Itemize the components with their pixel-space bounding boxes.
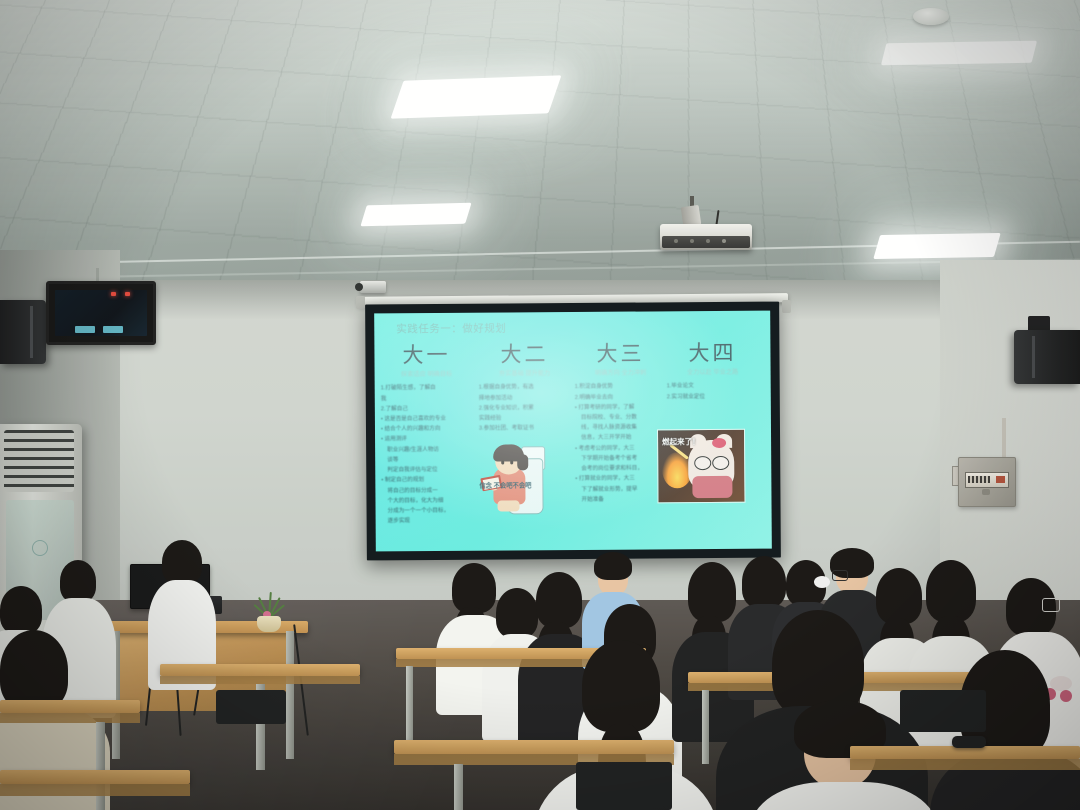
desk-surface	[0, 700, 140, 713]
meme-caption: 燃起来了！	[662, 436, 700, 447]
panel-breaker-window	[965, 472, 1009, 488]
podium-leg	[286, 631, 294, 759]
wall-control-monitor[interactable]	[46, 281, 156, 345]
slide-column-junior: 大三 明确方向 全力冲刺 1.积淀自身优势 2.明确毕业去向 • 打算考研的同学…	[574, 337, 667, 506]
projection-screen: 实践任务一：做好规划 大一 探索适应 明确目标 1.打破陌生感，了解自 我 2.…	[365, 302, 781, 561]
wall-monitor-screen	[55, 290, 147, 336]
potted-plant	[252, 598, 286, 632]
classroom-chair[interactable]	[576, 762, 672, 810]
girl-hair-side	[517, 454, 528, 470]
projector-lens	[722, 239, 726, 243]
hair	[876, 568, 922, 624]
girl-eye	[501, 460, 504, 464]
classroom-chair[interactable]	[216, 690, 286, 724]
right-wall-speaker	[1014, 330, 1080, 384]
desk-leg	[454, 764, 463, 810]
speaker-strip	[30, 306, 33, 358]
hair	[0, 630, 68, 710]
status-led-icon	[111, 292, 116, 296]
back-wall-camera	[360, 281, 386, 293]
hair	[0, 586, 42, 634]
desk-surface	[160, 664, 360, 676]
desk-leg	[96, 722, 105, 810]
camera-lens-icon	[355, 283, 363, 291]
desk-surface	[0, 770, 190, 784]
column-body: 1.根据自身优势，有选 择地参加活动 2.强化专业知识，积累 实践经验 3.参加…	[479, 383, 571, 434]
girl-eye	[510, 460, 513, 464]
column-heading: 大三	[574, 337, 666, 368]
column-heading: 大一	[380, 339, 472, 370]
projector-body	[660, 224, 752, 250]
breaker-indicator	[996, 476, 1005, 483]
plant-pot	[257, 616, 281, 632]
desk-leg	[406, 666, 413, 746]
hair	[742, 556, 786, 608]
hair	[926, 560, 976, 622]
slide-title: 实践任务一：做好规划	[396, 320, 506, 336]
hair	[536, 572, 582, 628]
desk-edge	[0, 784, 190, 796]
smoke-detector-icon	[913, 8, 949, 25]
roller-end-cap	[356, 296, 365, 309]
kitty-glasses	[712, 456, 729, 470]
ac-vent-louvers	[4, 430, 74, 492]
slide-surface: 实践任务一：做好规划 大一 探索适应 明确目标 1.打破陌生感，了解自 我 2.…	[374, 311, 772, 552]
desk-surface	[394, 740, 674, 754]
cartoon-girl-illustration: 信念 不会吧不会吧	[477, 438, 556, 525]
roller-end-cap	[782, 300, 791, 313]
slide-column-senior: 大四 全力以赴 毕业之路 1.毕业论文 2.实习就业定位	[666, 337, 758, 403]
desk-edge	[0, 713, 140, 723]
classroom-photo: 实践任务一：做好规划 大一 探索适应 明确目标 1.打破陌生感，了解自 我 2.…	[0, 0, 1080, 810]
speaker-strip	[1032, 336, 1035, 378]
monitor-button[interactable]	[103, 326, 123, 333]
desk-edge	[850, 759, 1080, 770]
status-led-icon	[125, 292, 130, 296]
breaker-switches	[968, 476, 990, 483]
kitty-body	[692, 476, 732, 498]
column-subtitle: 全力以赴 毕业之路	[667, 368, 759, 378]
column-heading: 大四	[666, 337, 758, 368]
hair-clip	[814, 576, 830, 588]
classroom-chair[interactable]	[900, 690, 986, 732]
hair	[688, 562, 736, 622]
ac-power-icon[interactable]	[32, 540, 48, 556]
kitty-bow	[712, 438, 726, 448]
column-body: 1.积淀自身优势 2.明确毕业去向 • 打算考研的同学，了解 目标院校、专业、分…	[575, 383, 668, 505]
conduit-pipe	[1002, 418, 1006, 460]
girl-legs	[497, 500, 519, 511]
column-body: 1.打破陌生感，了解自 我 2.了解自己 • 这是否是自己喜欢的专业 • 结合个…	[381, 384, 474, 527]
left-wall-speaker	[0, 300, 46, 364]
electrical-panel-box[interactable]	[958, 457, 1016, 507]
projector-vent-dot	[674, 239, 678, 243]
column-subtitle: 明确方向 全力冲刺	[575, 368, 667, 378]
ceiling-projector	[660, 216, 752, 250]
hair	[452, 563, 496, 613]
kitty-glasses	[694, 456, 711, 470]
hello-kitty-meme-image: 燃起来了！	[657, 429, 746, 504]
desk-item-glasses[interactable]	[952, 736, 986, 748]
hair	[496, 588, 538, 638]
hair	[582, 640, 660, 732]
column-heading: 大二	[478, 338, 570, 369]
projector-vent-dot	[690, 239, 694, 243]
ceiling-light-right	[873, 233, 1000, 259]
desk-leg	[702, 690, 709, 764]
column-subtitle: 夯实基础 提升能力	[479, 369, 571, 379]
glasses-icon	[832, 570, 848, 581]
ceiling-light-back-right	[881, 41, 1037, 66]
ceiling-light-front	[391, 75, 562, 118]
monitor-button[interactable]	[75, 326, 95, 333]
hair	[60, 560, 96, 602]
column-subtitle: 探索适应 明确目标	[381, 370, 473, 380]
hair	[594, 552, 632, 580]
illustration-caption: 信念 不会吧不会吧	[477, 482, 533, 491]
glasses-icon	[1042, 598, 1060, 612]
slide-column-freshman: 大一 探索适应 明确目标 1.打破陌生感，了解自 我 2.了解自己 • 这是否是…	[380, 339, 473, 528]
desk-edge	[160, 676, 360, 684]
panel-latch[interactable]	[982, 489, 990, 495]
slide-column-sophomore: 大二 夯实基础 提升能力 1.根据自身优势，有选 择地参加活动 2.强化专业知识…	[478, 338, 571, 435]
hair	[162, 540, 202, 584]
column-body: 1.毕业论文 2.实习就业定位	[667, 382, 759, 402]
ceiling-light-center	[360, 203, 471, 227]
projector-vent-dot	[706, 239, 710, 243]
